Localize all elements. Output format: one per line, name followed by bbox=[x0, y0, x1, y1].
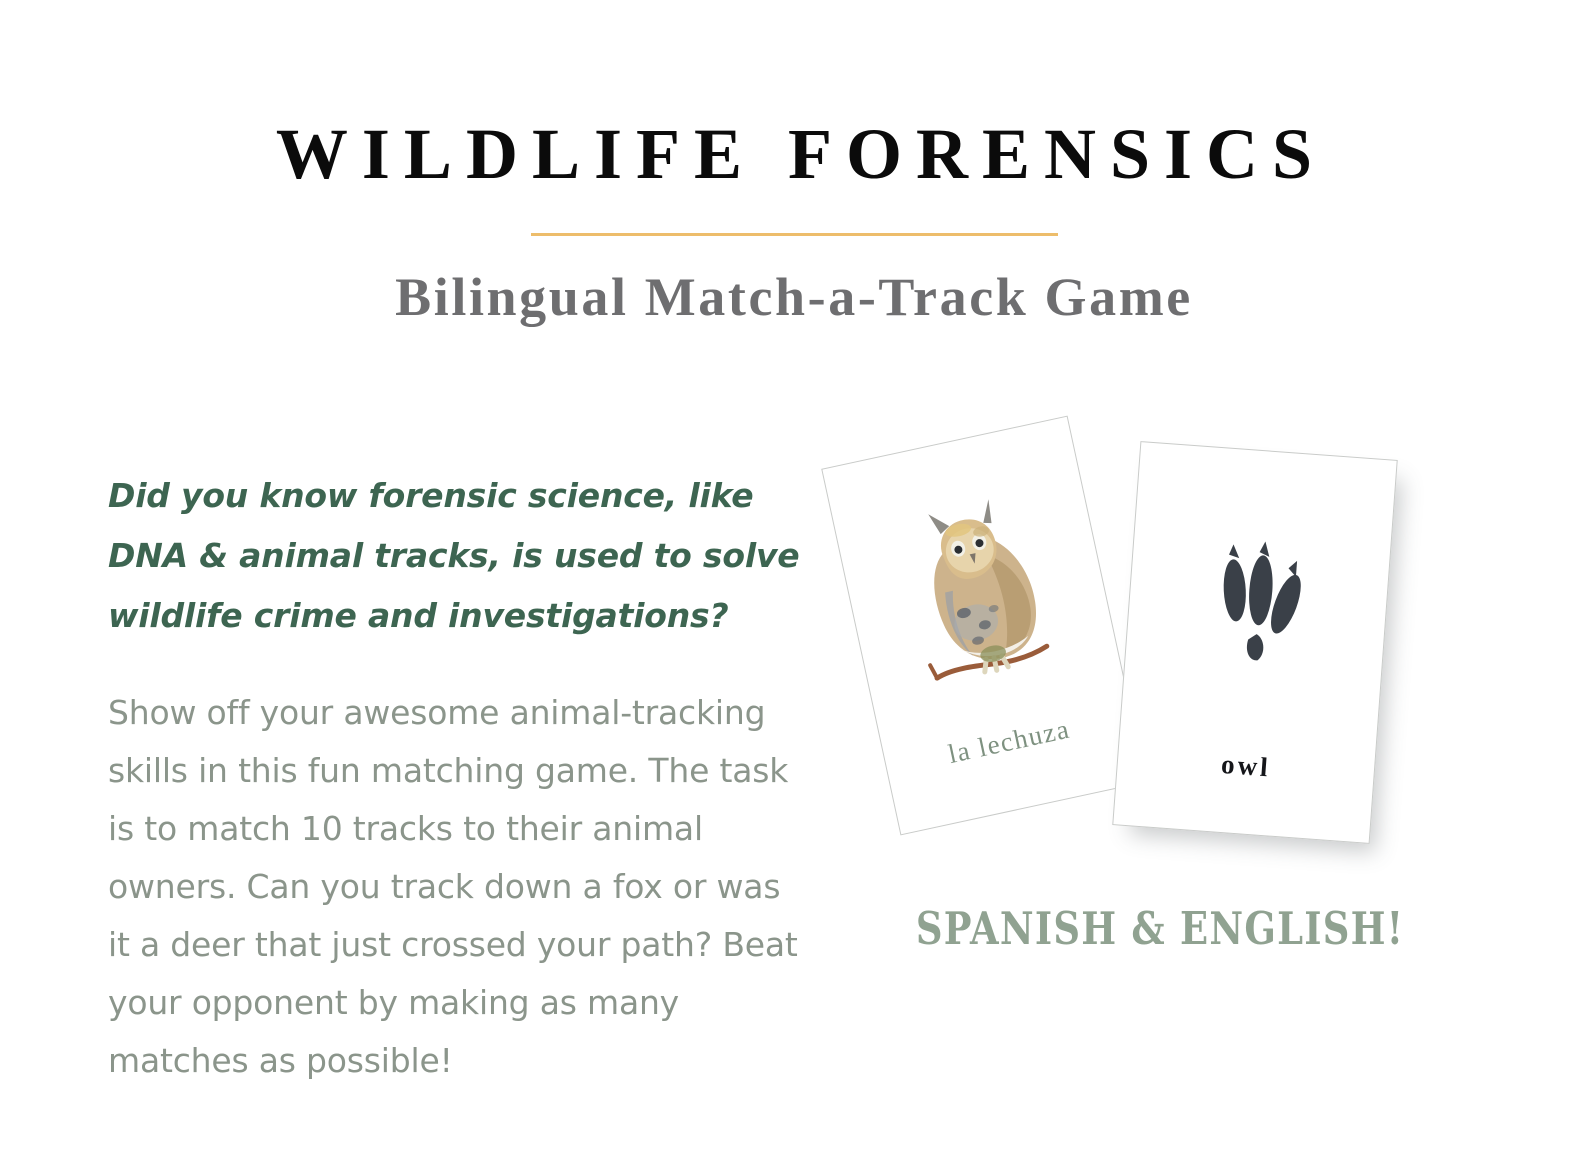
description-column: Did you know forensic science, like DNA … bbox=[108, 466, 808, 1090]
english-word: owl bbox=[1220, 749, 1272, 783]
spanish-word: la lechuza bbox=[945, 714, 1072, 769]
bilingual-banner: SPANISH & ENGLISH! bbox=[889, 902, 1430, 955]
lede-paragraph: Did you know forensic science, like DNA … bbox=[108, 466, 808, 646]
watercolor-owl-icon bbox=[883, 480, 1072, 707]
product-listing-page: WILDLIFE FORENSICS Bilingual Match-a-Tra… bbox=[0, 0, 1588, 1150]
flashcard-pair: la lechuza bbox=[830, 420, 1490, 980]
owl-illustration bbox=[832, 462, 1122, 725]
page-header: WILDLIFE FORENSICS Bilingual Match-a-Tra… bbox=[0, 0, 1588, 328]
flashcard-spanish[interactable]: la lechuza bbox=[821, 416, 1147, 836]
page-title: WILDLIFE FORENSICS bbox=[0, 0, 1588, 191]
page-subtitle: Bilingual Match-a-Track Game bbox=[0, 236, 1588, 327]
body-paragraph: Show off your awesome animal-tracking sk… bbox=[108, 646, 808, 1090]
card-label-english: owl bbox=[1117, 741, 1375, 791]
flashcard-english[interactable]: owl bbox=[1112, 441, 1398, 844]
owl-track-illustration bbox=[1122, 488, 1393, 721]
owl-track-icon bbox=[1192, 525, 1323, 683]
